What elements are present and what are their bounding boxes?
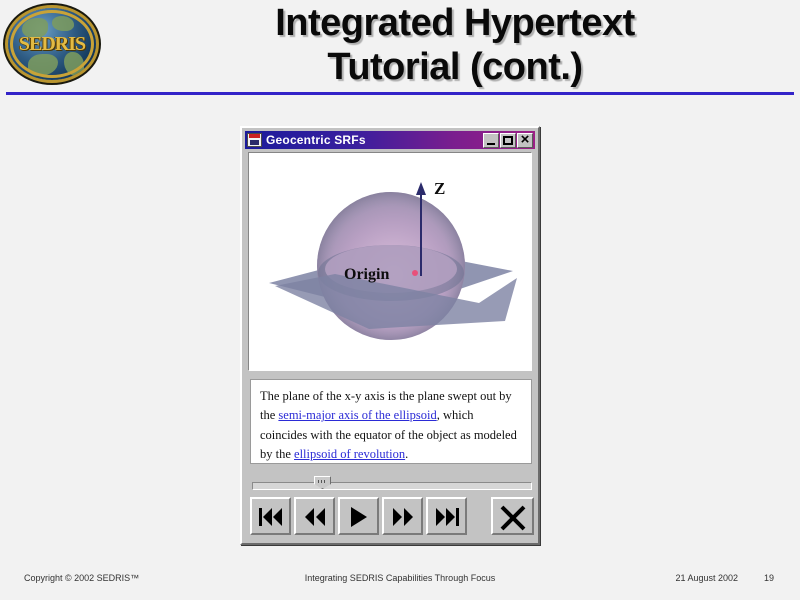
play-button[interactable] [338, 497, 379, 535]
graphic-panel: Z Origin [248, 152, 532, 371]
minimize-button[interactable] [483, 133, 499, 148]
origin-label: Origin [344, 266, 389, 283]
skip-end-icon [434, 505, 460, 529]
maximize-button[interactable] [500, 133, 516, 148]
window-title: Geocentric SRFs [266, 133, 482, 147]
playback-slider[interactable] [252, 480, 532, 492]
skip-to-end-button[interactable] [426, 497, 467, 535]
page-title: Integrated Hypertext Tutorial (cont.) [120, 2, 790, 89]
transport-controls [250, 497, 534, 537]
page-title-line-2: Tutorial (cont.) [120, 46, 790, 90]
play-icon [346, 505, 372, 529]
fast-forward-icon [390, 505, 416, 529]
application-icon [247, 133, 262, 147]
slide-header: SEDRIS Integrated Hypertext Tutorial (co… [0, 0, 800, 92]
title-divider [6, 92, 794, 95]
window-title-bar[interactable]: Geocentric SRFs [245, 131, 535, 149]
page-title-line-1: Integrated Hypertext [120, 2, 790, 46]
geocentric-srfs-window: Geocentric SRFs [240, 126, 540, 545]
close-player-button[interactable] [491, 497, 534, 535]
skip-start-icon [258, 505, 284, 529]
origin-dot [412, 270, 418, 276]
sedris-logo-text: SEDRIS [8, 34, 96, 54]
fast-forward-button[interactable] [382, 497, 423, 535]
rewind-icon [302, 505, 328, 529]
slider-track[interactable] [252, 482, 532, 490]
link-ellipsoid-of-revolution[interactable]: ellipsoid of revolution [294, 447, 405, 461]
link-semi-major-axis[interactable]: semi-major axis of the ellipsoid [278, 408, 436, 422]
geocentric-sphere-figure: Z Origin [249, 153, 532, 371]
rewind-button[interactable] [294, 497, 335, 535]
z-axis-arrowhead [416, 182, 426, 195]
caption-panel: The plane of the x-y axis is the plane s… [250, 379, 532, 464]
close-icon[interactable] [517, 133, 533, 148]
skip-to-start-button[interactable] [250, 497, 291, 535]
sedris-logo: SEDRIS [8, 8, 96, 80]
slide-footer: Copyright © 2002 SEDRIS™ Integrating SED… [0, 570, 800, 590]
footer-date: 21 August 2002 [675, 573, 738, 583]
footer-page-number: 19 [764, 573, 774, 583]
x-close-icon [498, 503, 528, 533]
caption-text-part-3: . [405, 447, 408, 461]
z-axis-label: Z [434, 179, 445, 198]
